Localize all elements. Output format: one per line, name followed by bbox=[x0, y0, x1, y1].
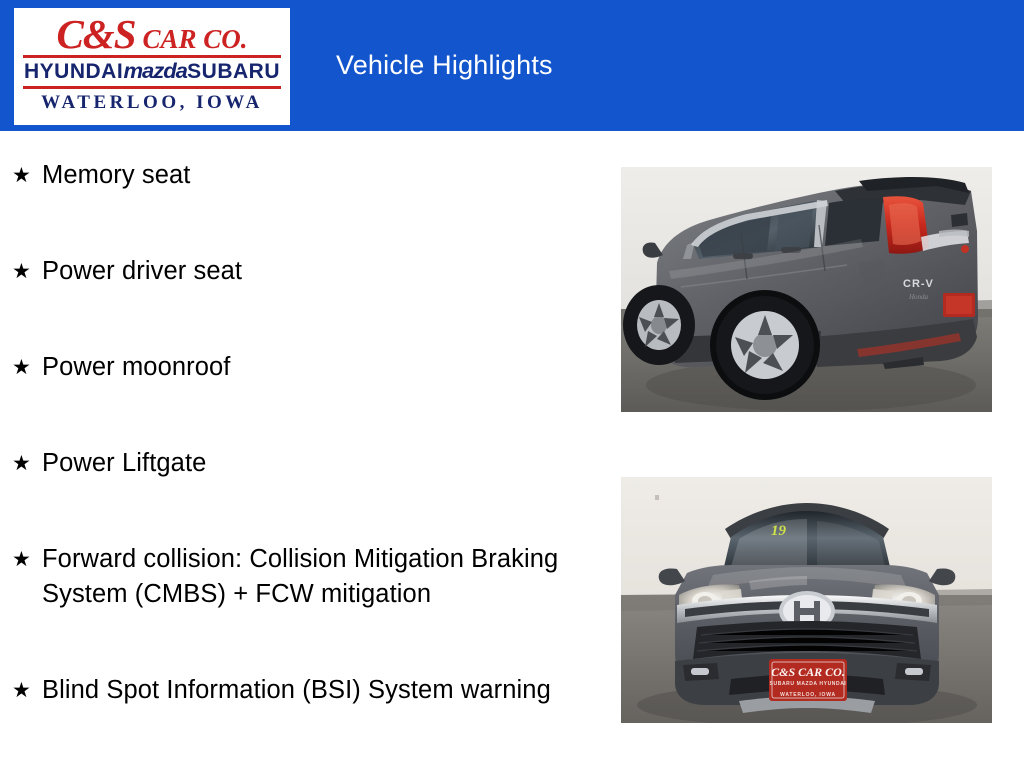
logo-divider-top bbox=[23, 55, 281, 58]
list-item-label: Power Liftgate bbox=[42, 446, 572, 481]
vehicle-highlights-list: ★ Memory seat ★ Power driver seat ★ Powe… bbox=[12, 158, 572, 708]
logo-brand-subaru: SUBARU bbox=[187, 60, 280, 84]
svg-text:CR-V: CR-V bbox=[903, 278, 934, 290]
list-item: ★ Forward collision: Collision Mitigatio… bbox=[12, 542, 572, 612]
list-item: ★ Memory seat bbox=[12, 158, 572, 193]
logo-company-name: C&S CAR CO. bbox=[22, 14, 282, 54]
list-item: ★ Power moonroof bbox=[12, 350, 572, 385]
logo-brand-row: HYUNDAI mazda SUBARU bbox=[22, 59, 282, 85]
star-bullet-icon: ★ bbox=[12, 350, 42, 385]
svg-text:Honda: Honda bbox=[908, 293, 929, 301]
list-item: ★ Blind Spot Information (BSI) System wa… bbox=[12, 673, 572, 708]
list-item-label: Memory seat bbox=[42, 158, 572, 193]
list-item: ★ Power Liftgate bbox=[12, 446, 572, 481]
svg-text:C&S CAR CO.: C&S CAR CO. bbox=[771, 665, 845, 679]
slide-canvas: C&S CAR CO. HYUNDAI mazda SUBARU WATERLO… bbox=[0, 0, 1024, 768]
svg-text:WATERLOO, IOWA: WATERLOO, IOWA bbox=[780, 692, 836, 698]
logo-brand-hyundai: HYUNDAI bbox=[24, 60, 123, 84]
list-item-label: Power moonroof bbox=[42, 350, 572, 385]
logo-divider-bottom bbox=[23, 86, 281, 89]
dealer-license-plate: C&S CAR CO. SUBARU MAZDA HYUNDAI WATERLO… bbox=[769, 659, 847, 701]
list-item: ★ Power driver seat bbox=[12, 254, 572, 289]
list-item-label: Power driver seat bbox=[42, 254, 572, 289]
logo-company-initials: C&S bbox=[56, 14, 135, 54]
logo-brand-mazda: mazda bbox=[123, 60, 186, 84]
svg-text:SUBARU MAZDA HYUNDAI: SUBARU MAZDA HYUNDAI bbox=[770, 681, 847, 687]
vehicle-photo-rear: CR-V Honda bbox=[621, 167, 992, 412]
star-bullet-icon: ★ bbox=[12, 254, 42, 289]
list-item-label: Blind Spot Information (BSI) System warn… bbox=[42, 673, 572, 708]
logo-location: WATERLOO, IOWA bbox=[22, 90, 282, 114]
page-title: Vehicle Highlights bbox=[336, 50, 553, 81]
star-bullet-icon: ★ bbox=[12, 542, 42, 577]
list-item-label: Forward collision: Collision Mitigation … bbox=[42, 542, 572, 612]
vehicle-photo-front: 19 bbox=[621, 477, 992, 723]
star-bullet-icon: ★ bbox=[12, 446, 42, 481]
logo-company-suffix: CAR CO. bbox=[143, 26, 248, 52]
windshield-year-sticker: 19 bbox=[771, 523, 787, 539]
star-bullet-icon: ★ bbox=[12, 158, 42, 193]
star-bullet-icon: ★ bbox=[12, 673, 42, 708]
dealer-logo: C&S CAR CO. HYUNDAI mazda SUBARU WATERLO… bbox=[14, 8, 290, 125]
